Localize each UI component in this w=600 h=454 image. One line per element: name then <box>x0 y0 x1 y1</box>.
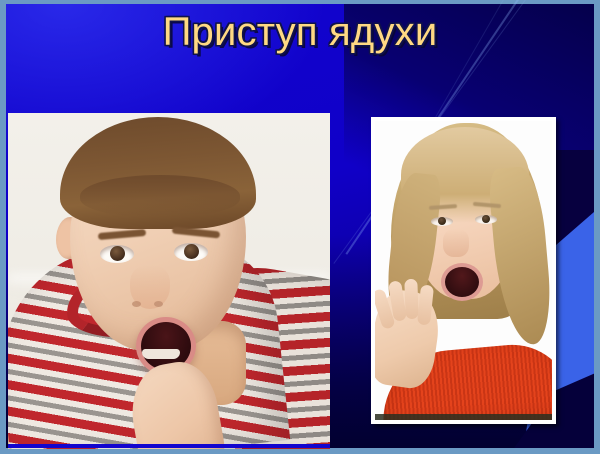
boy-iris-right <box>184 244 199 259</box>
boy-nostril-right <box>154 301 163 307</box>
boy-gasping-photo <box>8 113 330 449</box>
girl-iris-right <box>482 215 490 223</box>
girl-nose <box>443 229 469 257</box>
girl-iris-left <box>438 217 446 225</box>
boy-nostril-left <box>132 301 141 307</box>
girl-coughing-photo <box>375 121 552 420</box>
slide-title: Приступ ядухи <box>163 10 438 55</box>
left-photo-bottom-strip <box>8 444 330 448</box>
boy-teeth <box>142 349 180 359</box>
girl-photo-frame <box>371 117 556 424</box>
presentation-slide: Приступ ядухи <box>0 0 600 454</box>
girl-open-mouth <box>441 263 483 301</box>
boy-iris-left <box>110 246 125 261</box>
girl-finger <box>404 279 418 319</box>
photo-bottom-edge <box>375 414 552 420</box>
slide-title-container: Приступ ядухи <box>6 6 594 58</box>
